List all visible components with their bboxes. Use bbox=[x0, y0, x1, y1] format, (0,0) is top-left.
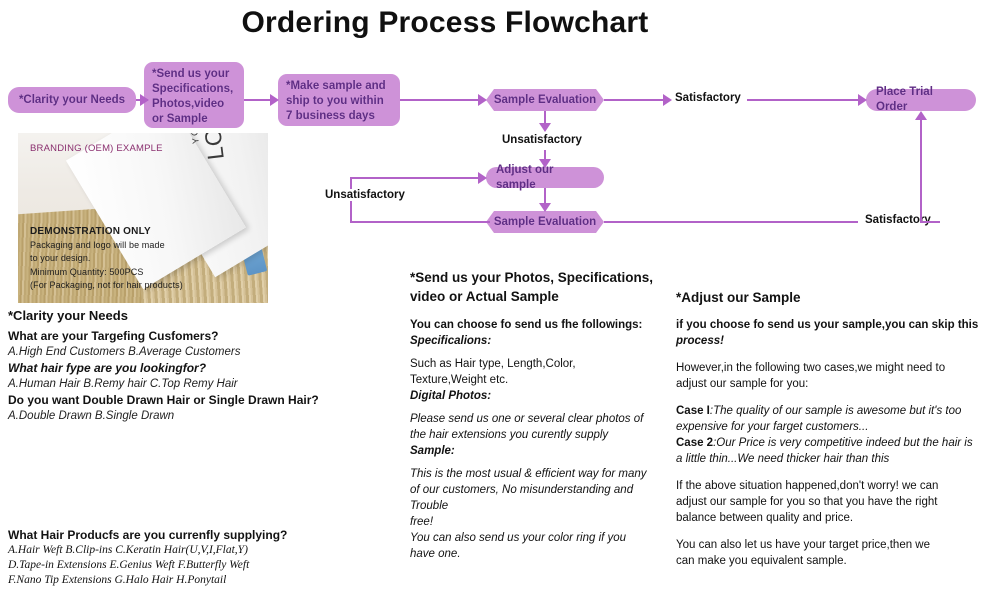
demonstration-note: DEMONSTRATION ONLY Packaging and logo wi… bbox=[30, 225, 183, 293]
page-title: Ordering Process Flowchart bbox=[210, 6, 680, 40]
node-label: *Make sample and ship to you within 7 bu… bbox=[286, 79, 392, 124]
however-line-1: However,in the following two cases,we mi… bbox=[676, 360, 996, 376]
connector-eval2-left bbox=[350, 221, 490, 223]
arrow-head-right bbox=[858, 94, 867, 106]
answer-target-customers: A.High End Customers B.Average Customers bbox=[8, 344, 398, 360]
question-drawn-hair: Do you want Double Drawn Hair or Single … bbox=[8, 392, 398, 408]
fix-line-1: If the above situation happened,don't wo… bbox=[676, 478, 996, 494]
case-2-label: Case 2 bbox=[676, 437, 713, 449]
sample-label: Sample: bbox=[410, 443, 665, 459]
price-line-1: You can also let us have your target pri… bbox=[676, 537, 996, 553]
section-heading: *Adjust our Sample bbox=[676, 290, 996, 306]
specifications-label: Specificalions: bbox=[410, 333, 665, 349]
spacer bbox=[410, 306, 665, 317]
node-sample-evaluation-2[interactable]: Sample Evaluation bbox=[486, 211, 604, 233]
node-label: *Clarity your Needs bbox=[19, 93, 125, 108]
connector-make-to-eval1 bbox=[400, 99, 482, 101]
node-label: Sample Evaluation bbox=[494, 93, 596, 108]
connector-satisfactory-up-to-place bbox=[920, 120, 922, 221]
arrow-head-down bbox=[539, 159, 551, 168]
hair-products-section: What Hair Producfs are you currenfly sup… bbox=[8, 528, 398, 588]
question-hair-products: What Hair Producfs are you currenfly sup… bbox=[8, 528, 398, 543]
sample-body-1: This is the most usual & efficient way f… bbox=[410, 466, 665, 482]
adjust-sample-section: *Adjust our Sample if you choose fo send… bbox=[676, 290, 996, 569]
edge-label-satisfactory-bottom: Satisfactory bbox=[862, 214, 934, 226]
sample-body-3: Trouble bbox=[410, 498, 665, 514]
demo-line: Minimum Quantity: 500PCS bbox=[30, 266, 183, 280]
demo-heading: DEMONSTRATION ONLY bbox=[30, 225, 183, 239]
branding-label: BRANDING (OEM) EXAMPLE bbox=[30, 143, 163, 154]
answer-hair-type: A.Human Hair B.Remy hair C.Top Remy Hair bbox=[8, 376, 398, 392]
sample-body-4: free! bbox=[410, 514, 665, 530]
edge-label-unsatisfactory-left: Unsatisfactory bbox=[322, 189, 408, 201]
question-hair-type: What hair fype are you lookingfor? bbox=[8, 360, 398, 376]
digital-photos-label: Digital Photos: bbox=[410, 388, 665, 404]
spacer bbox=[676, 526, 996, 537]
spacer bbox=[676, 467, 996, 478]
case-1-text: :The quality of our sample is awesome bu… bbox=[710, 405, 961, 417]
logo-placeholder: YOUR LOGO bbox=[185, 133, 230, 163]
arrow-head-right bbox=[478, 94, 487, 106]
node-label: Sample Evaluation bbox=[494, 215, 596, 230]
spacer bbox=[676, 392, 996, 403]
connector-satisfactory-to-place bbox=[747, 99, 865, 101]
send-photos-section: *Send us your Photos, Specifications, vi… bbox=[410, 268, 665, 562]
node-clarify-your-needs[interactable]: *Clarity your Needs bbox=[8, 87, 136, 113]
branding-example-photo: YOUR LOGO BRANDING (OEM) EXAMPLE DEMONST… bbox=[18, 133, 268, 303]
case-2-text: :Our Price is very competitive indeed bu… bbox=[713, 437, 973, 449]
answer-hair-products-2: D.Tape-in Extensions E.Genius Weft F.But… bbox=[8, 558, 398, 573]
demo-line: Packaging and logo will be made bbox=[30, 239, 183, 253]
skip-process-line-2: process! bbox=[676, 333, 996, 349]
connector-eval1-to-satisfactory bbox=[604, 99, 668, 101]
node-place-trial-order[interactable]: Place Trial Order bbox=[866, 89, 976, 111]
fix-line-3: balance between quality and price. bbox=[676, 510, 996, 526]
case-2: Case 2:Our Price is very competitive ind… bbox=[676, 435, 996, 451]
demo-line: to your design. bbox=[30, 252, 183, 266]
spacer bbox=[676, 306, 996, 317]
edge-label-unsatisfactory-mid: Unsatisfactory bbox=[499, 134, 585, 146]
question-target-customers: What are your Targefing Cusfomers? bbox=[8, 328, 398, 344]
clarify-needs-section: *Clarity your Needs What are your Targef… bbox=[8, 308, 398, 424]
node-adjust-our-sample[interactable]: Adjust our sample bbox=[486, 167, 604, 188]
node-make-sample[interactable]: *Make sample and ship to you within 7 bu… bbox=[278, 74, 400, 126]
sample-body-5: You can also send us your color ring if … bbox=[410, 530, 665, 546]
arrow-head-right bbox=[478, 172, 487, 184]
arrow-head-right bbox=[663, 94, 672, 106]
section-heading: *Clarity your Needs bbox=[8, 308, 398, 324]
node-sample-evaluation-1[interactable]: Sample Evaluation bbox=[486, 89, 604, 111]
sample-body-2: of our customers, No misunderstanding an… bbox=[410, 482, 665, 498]
sample-body-6: have one. bbox=[410, 546, 665, 562]
node-send-specifications[interactable]: *Send us your Specifications, Photos,vid… bbox=[144, 62, 244, 128]
case-1-text-2: expensive for your farget customers... bbox=[676, 419, 996, 435]
section-heading: *Send us your Photos, Specifications, vi… bbox=[410, 268, 665, 306]
spacer bbox=[676, 349, 996, 360]
spacer bbox=[410, 459, 665, 466]
arrow-head-right bbox=[140, 94, 149, 106]
flowchart-page: Ordering Process Flowchart *Clarity your… bbox=[0, 0, 1000, 597]
skip-process-line-1: if you choose fo send us your sample,you… bbox=[676, 317, 996, 333]
price-line-2: can make you equivalent sample. bbox=[676, 553, 996, 569]
however-line-2: adjust our sample for you: bbox=[676, 376, 996, 392]
digital-photos-body-2: the hair extensions you curently supply bbox=[410, 427, 665, 443]
lead-text: You can choose fo send us fhe followings… bbox=[410, 317, 665, 333]
arrow-head-right bbox=[270, 94, 279, 106]
demo-line: (For Packaging, not for hair products) bbox=[30, 279, 183, 293]
spacer bbox=[410, 349, 665, 356]
case-1: Case I:The quality of our sample is awes… bbox=[676, 403, 996, 419]
fix-line-2: adjust our sample for you so that you ha… bbox=[676, 494, 996, 510]
digital-photos-body-1: Please send us one or several clear phot… bbox=[410, 411, 665, 427]
specifications-body-2: Texture,Weight etc. bbox=[410, 372, 665, 388]
arrow-head-down bbox=[539, 123, 551, 132]
answer-drawn-hair: A.Double Drawn B.Single Drawn bbox=[8, 408, 398, 424]
spacer bbox=[410, 404, 665, 411]
case-2-text-2: a little thin...We need thicker hair tha… bbox=[676, 451, 996, 467]
answer-hair-products-1: A.Hair Weft B.Clip-ins C.Keratin Hair(U,… bbox=[8, 543, 398, 558]
edge-label-satisfactory-top: Satisfactory bbox=[672, 92, 744, 104]
arrow-head-down bbox=[539, 203, 551, 212]
node-label: *Send us your Specifications, Photos,vid… bbox=[152, 67, 236, 127]
connector-bottom-join bbox=[920, 221, 940, 223]
case-1-label: Case I bbox=[676, 405, 710, 417]
connector-eval2-to-satisfactory bbox=[604, 221, 858, 223]
connector-loop-into-adjust bbox=[350, 177, 482, 179]
specifications-body-1: Such as Hair type, Length,Color, bbox=[410, 356, 665, 372]
answer-hair-products-3: F.Nano Tip Extensions G.Halo Hair H.Pony… bbox=[8, 573, 398, 588]
arrow-head-up bbox=[915, 111, 927, 120]
